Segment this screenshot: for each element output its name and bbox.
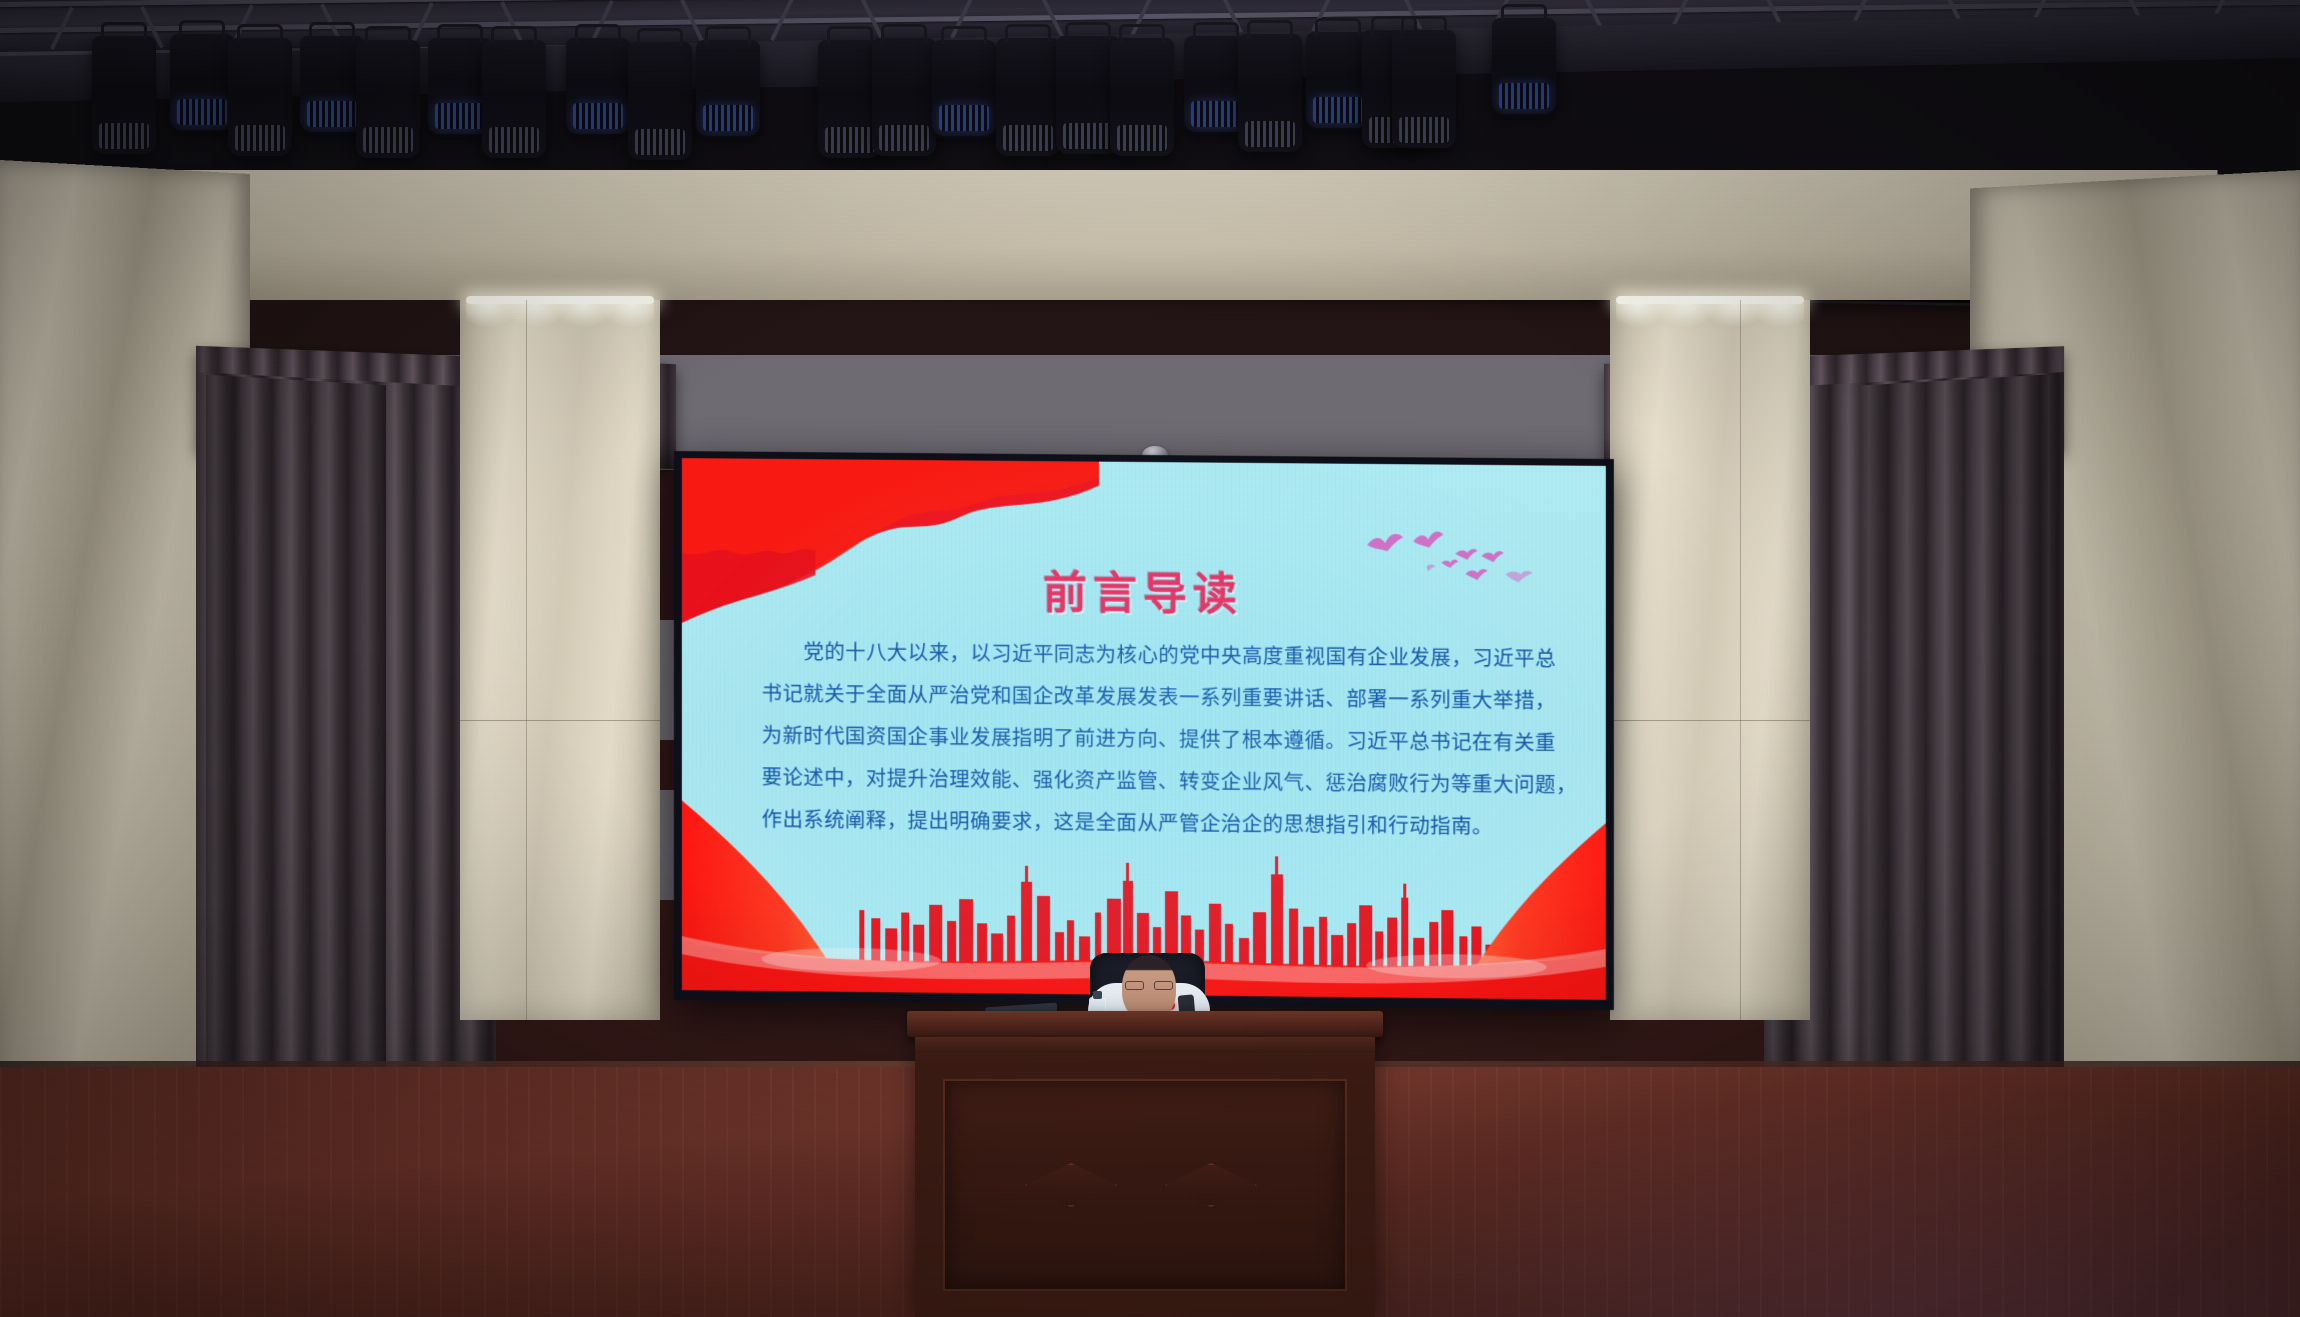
stage-light: [228, 38, 292, 156]
desk-front-panel: [943, 1079, 1347, 1291]
eyeglasses-icon: [1124, 981, 1174, 990]
stage-light: [872, 38, 936, 156]
desk-diamond-inlay: [1165, 1163, 1257, 1207]
downlight-glow: [466, 300, 654, 370]
stage-light: [1392, 30, 1456, 148]
desk-diamond-inlay: [1025, 1163, 1117, 1207]
stage-light: [1238, 34, 1302, 152]
presentation-slide: 前言导读 党的十八大以来，以习近平同志为核心的党中央高度重视国有企业发展，习近平…: [682, 458, 1606, 1000]
stage-light: [696, 40, 760, 136]
auditorium-scene: 承德市国控集团“学思想、转作风、见行动”主题大讨论活动专题党课: [0, 0, 2300, 1317]
stage-light: [1306, 32, 1370, 128]
stage-light: [300, 36, 364, 132]
desk-apron: [915, 1037, 1375, 1053]
stage-light: [92, 36, 156, 154]
podium-desk: [915, 1027, 1375, 1317]
stage-light: [170, 34, 234, 130]
stage-light: [1492, 18, 1556, 114]
downlight-glow: [1616, 300, 1804, 370]
stage-light: [566, 38, 630, 134]
stage-light: [356, 40, 420, 158]
stage-light: [932, 40, 996, 136]
stage-light: [482, 40, 546, 158]
desk-top-surface: [907, 1011, 1383, 1037]
stage-light: [996, 38, 1060, 156]
slide-body: 党的十八大以来，以习近平同志为核心的党中央高度重视国有企业发展，习近平总 书记就…: [762, 630, 1544, 848]
led-display-screen: 前言导读 党的十八大以来，以习近平同志为核心的党中央高度重视国有企业发展，习近平…: [674, 451, 1614, 1010]
wall-panel-right: [1610, 300, 1810, 1020]
proscenium-header: [97, 170, 2222, 300]
slide-line: 书记就关于全面从严治党和国企改革发展发表一系列重要讲话、部署一系列重大举措，: [762, 672, 1544, 721]
wall-panel-left: [460, 300, 660, 1020]
slide-line: 党的十八大以来，以习近平同志为核心的党中央高度重视国有企业发展，习近平总: [762, 630, 1544, 679]
stage-light: [1110, 38, 1174, 156]
slide-title: 前言导读: [682, 554, 1606, 626]
slide-line: 作出系统阐释，提出明确要求，这是全面从严管企治企的思想指引和行动指南。: [762, 798, 1544, 848]
stage-light: [628, 42, 692, 160]
